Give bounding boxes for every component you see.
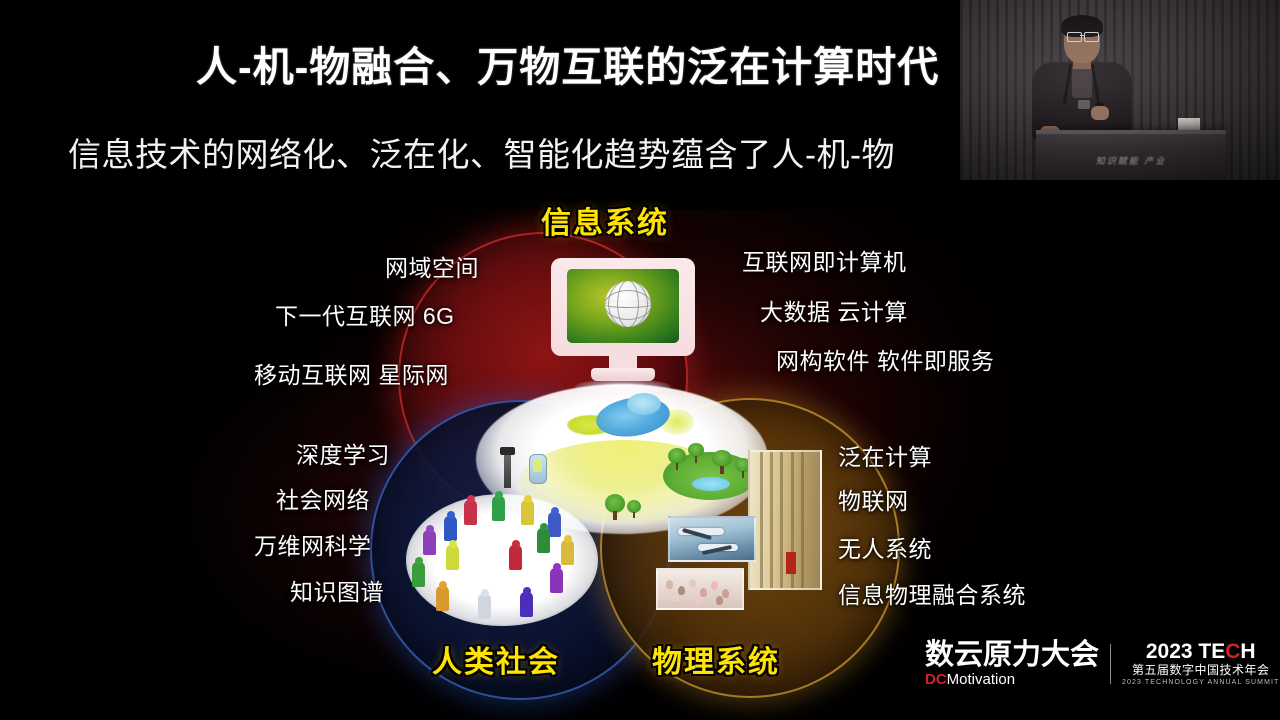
event-logo-summit-en: 2023 TECHNOLOGY ANNUAL SUMMIT <box>1122 679 1279 687</box>
keyword-label: 下一代互联网 6G <box>275 297 455 331</box>
lamp-post-icon <box>504 452 511 488</box>
person-figure <box>561 540 574 565</box>
skyscraper-photo-panel <box>748 450 822 590</box>
person-figure <box>444 516 457 541</box>
person-figure <box>464 500 477 525</box>
globe-icon <box>605 281 651 327</box>
venn-caption-human-society: 人类社会 <box>432 637 560 681</box>
monitor-globe-illustration <box>545 258 701 390</box>
event-logo-dc-text: DC <box>925 671 947 688</box>
person-figure <box>520 592 533 617</box>
person-figure <box>509 545 522 570</box>
venn-caption-physical-system: 物理系统 <box>652 637 780 681</box>
monitor-body <box>551 258 695 356</box>
keyword-label: 信息物理融合系统 <box>838 576 1026 610</box>
person-figure <box>478 594 491 619</box>
person-figure <box>550 568 563 593</box>
keyword-label: 大数据 云计算 <box>760 293 908 327</box>
event-logo-brand-cn: 数云原力大会 <box>925 641 1099 670</box>
person-figure <box>412 562 425 587</box>
person-figure <box>492 496 505 521</box>
tree-icon <box>605 494 625 520</box>
mobile-phone-icon <box>529 454 547 484</box>
person-figure <box>537 528 550 553</box>
earth-highlight <box>627 393 661 415</box>
event-logo-motivation-text: Motivation <box>947 671 1015 688</box>
slide-title: 人-机-物融合、万物互联的泛在计算时代 <box>196 33 1016 93</box>
person-figure <box>521 500 534 525</box>
slide-subtitle: 信息技术的网络化、泛在化、智能化趋势蕴含了人-机-物 <box>68 128 1008 176</box>
person-figure <box>436 586 449 611</box>
keyword-label: 网构软件 软件即服务 <box>776 342 994 376</box>
event-logo-brand-en: DC Motivation <box>925 671 1099 688</box>
person-figure <box>423 530 436 555</box>
keyword-label: 深度学习 <box>296 436 390 470</box>
airplane-photo-panel <box>668 516 756 562</box>
event-logo-summit-cn: 第五届数字中国技术年会 <box>1132 663 1270 679</box>
event-logo-summit: 2023 TECH 第五届数字中国技术年会 2023 TECHNOLOGY AN… <box>1122 641 1279 687</box>
keyword-label: 网域空间 <box>385 249 479 283</box>
logo-divider <box>1110 644 1111 684</box>
speaker-video-overlay[interactable]: 知识赋能 产业 <box>960 0 1280 180</box>
event-logo-year-tech: 2023 TECH <box>1146 641 1256 663</box>
slide-stage: 信息系统 人类社会 物理系统 网域空间 下一代互联网 6G 移动互联网 星际网 … <box>0 0 1280 720</box>
keyword-label: 移动互联网 星际网 <box>254 356 449 390</box>
keyword-label: 互联网即计算机 <box>742 243 907 277</box>
crowd-photo-panel <box>656 568 744 610</box>
monitor-screen <box>567 269 679 343</box>
event-logo: 数云原力大会 DC Motivation 2023 TECH 第五届数字中国技术… <box>925 636 1279 692</box>
person-figure <box>446 545 459 570</box>
tree-icon <box>712 450 732 474</box>
tree-icon <box>668 448 686 470</box>
island-lake <box>692 477 730 491</box>
keyword-label: 物联网 <box>838 482 909 516</box>
tree-icon <box>627 500 641 518</box>
keyword-label: 知识图谱 <box>290 573 384 607</box>
venn-caption-information-system: 信息系统 <box>541 198 669 242</box>
event-logo-brand: 数云原力大会 DC Motivation <box>925 641 1099 688</box>
tree-icon <box>688 443 704 463</box>
video-vignette <box>960 0 1280 180</box>
keyword-label: 无人系统 <box>838 530 932 564</box>
keyword-label: 泛在计算 <box>838 438 932 472</box>
keyword-label: 社会网络 <box>276 481 370 515</box>
keyword-label: 万维网科学 <box>254 527 372 561</box>
